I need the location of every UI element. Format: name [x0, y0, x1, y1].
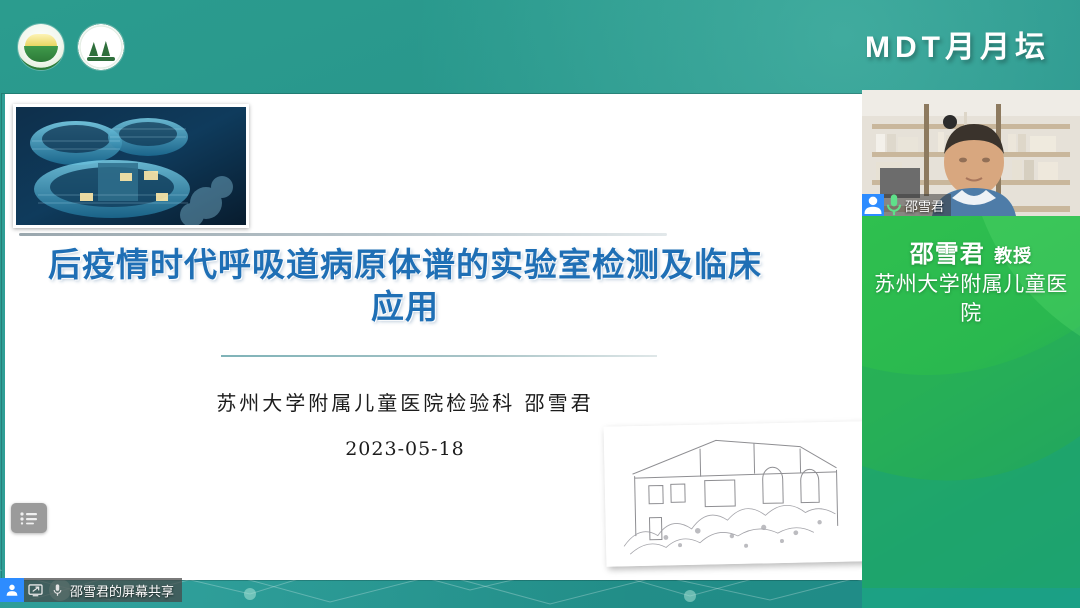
video-name-badge: 邵雪君	[862, 194, 951, 216]
speaker-affiliation: 苏州大学附属儿童医院	[862, 270, 1080, 327]
speaker-info-text: 邵雪君 教授 苏州大学附属儿童医院	[862, 238, 1080, 327]
speaker-degree: 教授	[994, 246, 1032, 267]
university-seal-icon	[78, 24, 124, 70]
microphone-icon	[884, 192, 904, 216]
webinar-screen: MDT月月坛	[0, 0, 1080, 608]
title-divider-top	[19, 233, 667, 236]
slide-list-menu-button[interactable]	[11, 503, 47, 533]
organization-logos	[18, 24, 124, 70]
list-menu-icon	[19, 511, 39, 525]
slide-title: 后疫情时代呼吸道病原体谱的实验室检测及临床应用	[45, 244, 765, 328]
microphone-icon	[46, 578, 68, 602]
speaker-info-card: 邵雪君 教授 苏州大学附属儿童医院	[862, 216, 1080, 608]
shared-slide[interactable]: 后疫情时代呼吸道病原体谱的实验室检测及临床应用 苏州大学附属儿童医院检验科 邵雪…	[2, 94, 865, 580]
hospital-emblem-icon	[18, 24, 64, 70]
title-divider-bottom	[221, 355, 657, 357]
program-title: MDT月月坛	[865, 22, 1050, 66]
slide-presenter: 苏州大学附属儿童医院检验科 邵雪君	[45, 387, 765, 416]
hospital-building-photo	[13, 104, 249, 228]
speaker-video-tile[interactable]: 邵雪君	[862, 90, 1080, 216]
screen-share-status-bar: 邵雪君的屏幕共享	[0, 578, 182, 602]
screen-share-label: 邵雪君的屏幕共享	[68, 581, 182, 600]
video-participant-name: 邵雪君	[904, 196, 951, 215]
speaker-name: 邵雪君	[910, 240, 985, 268]
participant-column: 邵雪君 邵雪君 教授 苏州大学附属儿童医院	[862, 90, 1080, 608]
building-sketch-image	[604, 421, 865, 566]
person-icon	[0, 578, 24, 602]
person-icon	[862, 194, 884, 216]
screen-share-icon	[24, 578, 46, 602]
